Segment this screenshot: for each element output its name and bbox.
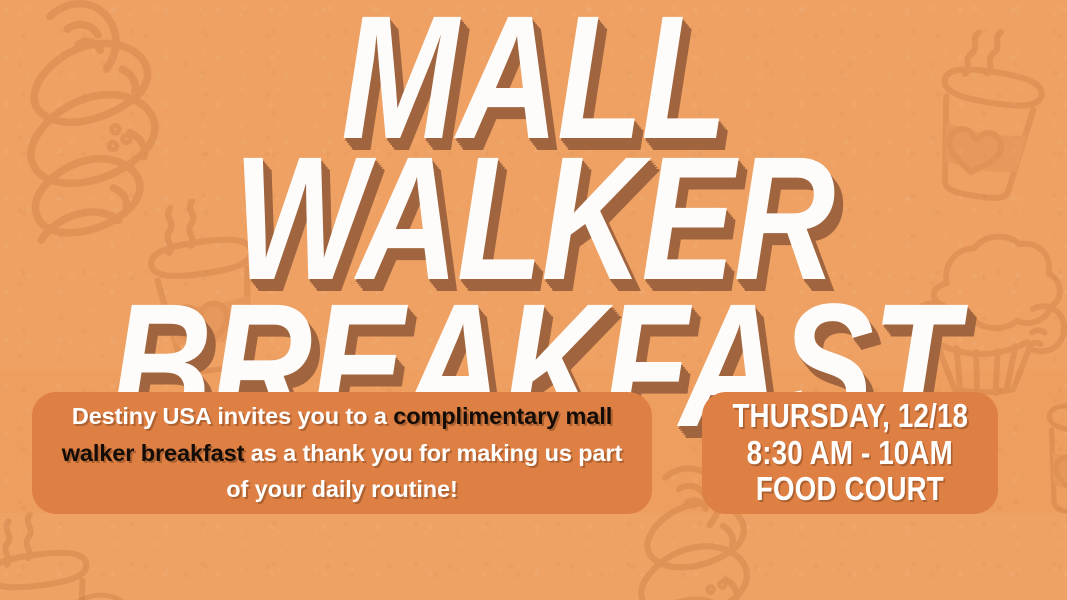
coffee-cup-heart-icon (0, 504, 120, 600)
event-time-line: 8:30 AM - 10AM (747, 435, 953, 472)
coffee-cup-heart-icon (1020, 362, 1067, 524)
background-band-bottom (0, 513, 1067, 600)
promo-message-box: Destiny USA invites you to a complimenta… (32, 392, 652, 514)
coffee-cup-heart-icon (905, 18, 1067, 210)
event-date-line: THURSDAY, 12/18 (732, 398, 968, 435)
promo-message-text: Destiny USA invites you to a complimenta… (58, 398, 626, 507)
event-details-box: THURSDAY, 12/18 8:30 AM - 10AM FOOD COUR… (702, 392, 998, 514)
poster-headline: MALL WALKER BREAKFAST (0, 8, 1067, 436)
coffee-cup-heart-icon (119, 189, 290, 383)
background-band-top (0, 0, 1067, 370)
promo-text-part2: as a thank you for making us part of you… (226, 440, 622, 502)
muffin-icon (888, 218, 1067, 396)
ice-cream-cone-icon (0, 534, 201, 600)
poster-canvas: MALL WALKER BREAKFAST Destiny USA invite… (0, 0, 1067, 600)
ice-cream-cone-icon (0, 0, 257, 269)
promo-text-part1: Destiny USA invites you to a (72, 403, 393, 429)
event-location-line: FOOD COURT (756, 471, 944, 508)
headline-line-1: MALL WALKER (107, 8, 961, 290)
